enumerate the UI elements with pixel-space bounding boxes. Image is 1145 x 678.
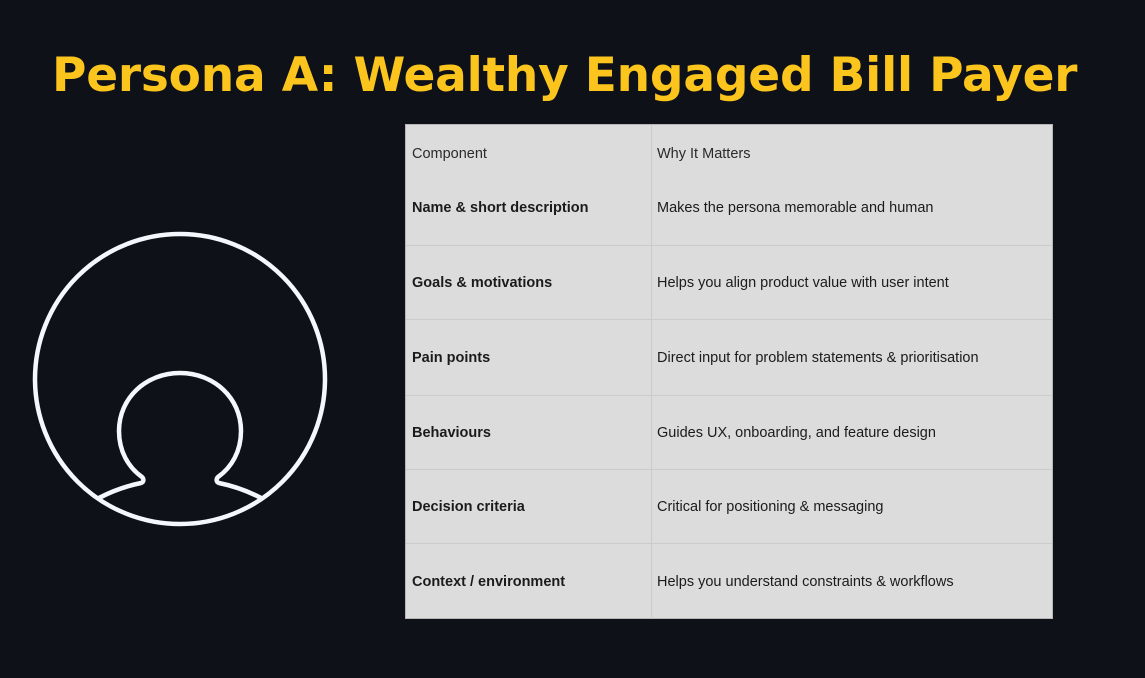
column-header-component: Component bbox=[406, 125, 652, 171]
table-row: Decision criteria Critical for positioni… bbox=[406, 469, 1052, 543]
cell-why-it-matters: Helps you align product value with user … bbox=[652, 246, 1052, 319]
table-row: Behaviours Guides UX, onboarding, and fe… bbox=[406, 395, 1052, 469]
cell-component: Name & short description bbox=[406, 171, 652, 245]
slide-canvas: Persona A: Wealthy Engaged Bill Payer Co… bbox=[0, 0, 1145, 678]
cell-why-it-matters: Direct input for problem statements & pr… bbox=[652, 320, 1052, 395]
table-row: Goals & motivations Helps you align prod… bbox=[406, 245, 1052, 319]
cell-why-it-matters: Critical for positioning & messaging bbox=[652, 470, 1052, 543]
cell-component: Decision criteria bbox=[406, 470, 652, 543]
person-avatar-icon bbox=[28, 227, 332, 531]
cell-component: Behaviours bbox=[406, 396, 652, 469]
table-row: Pain points Direct input for problem sta… bbox=[406, 319, 1052, 395]
cell-component: Context / environment bbox=[406, 544, 652, 619]
table-row: Context / environment Helps you understa… bbox=[406, 543, 1052, 619]
page-title: Persona A: Wealthy Engaged Bill Payer bbox=[52, 44, 1092, 108]
cell-component: Pain points bbox=[406, 320, 652, 395]
cell-component: Goals & motivations bbox=[406, 246, 652, 319]
cell-why-it-matters: Helps you understand constraints & workf… bbox=[652, 544, 1052, 619]
cell-why-it-matters: Makes the persona memorable and human bbox=[652, 171, 1052, 245]
table-header-row: Component Why It Matters bbox=[406, 125, 1052, 171]
column-header-why-it-matters: Why It Matters bbox=[652, 125, 1052, 171]
persona-component-table: Component Why It Matters Name & short de… bbox=[405, 124, 1053, 619]
table-row: Name & short description Makes the perso… bbox=[406, 171, 1052, 245]
cell-why-it-matters: Guides UX, onboarding, and feature desig… bbox=[652, 396, 1052, 469]
